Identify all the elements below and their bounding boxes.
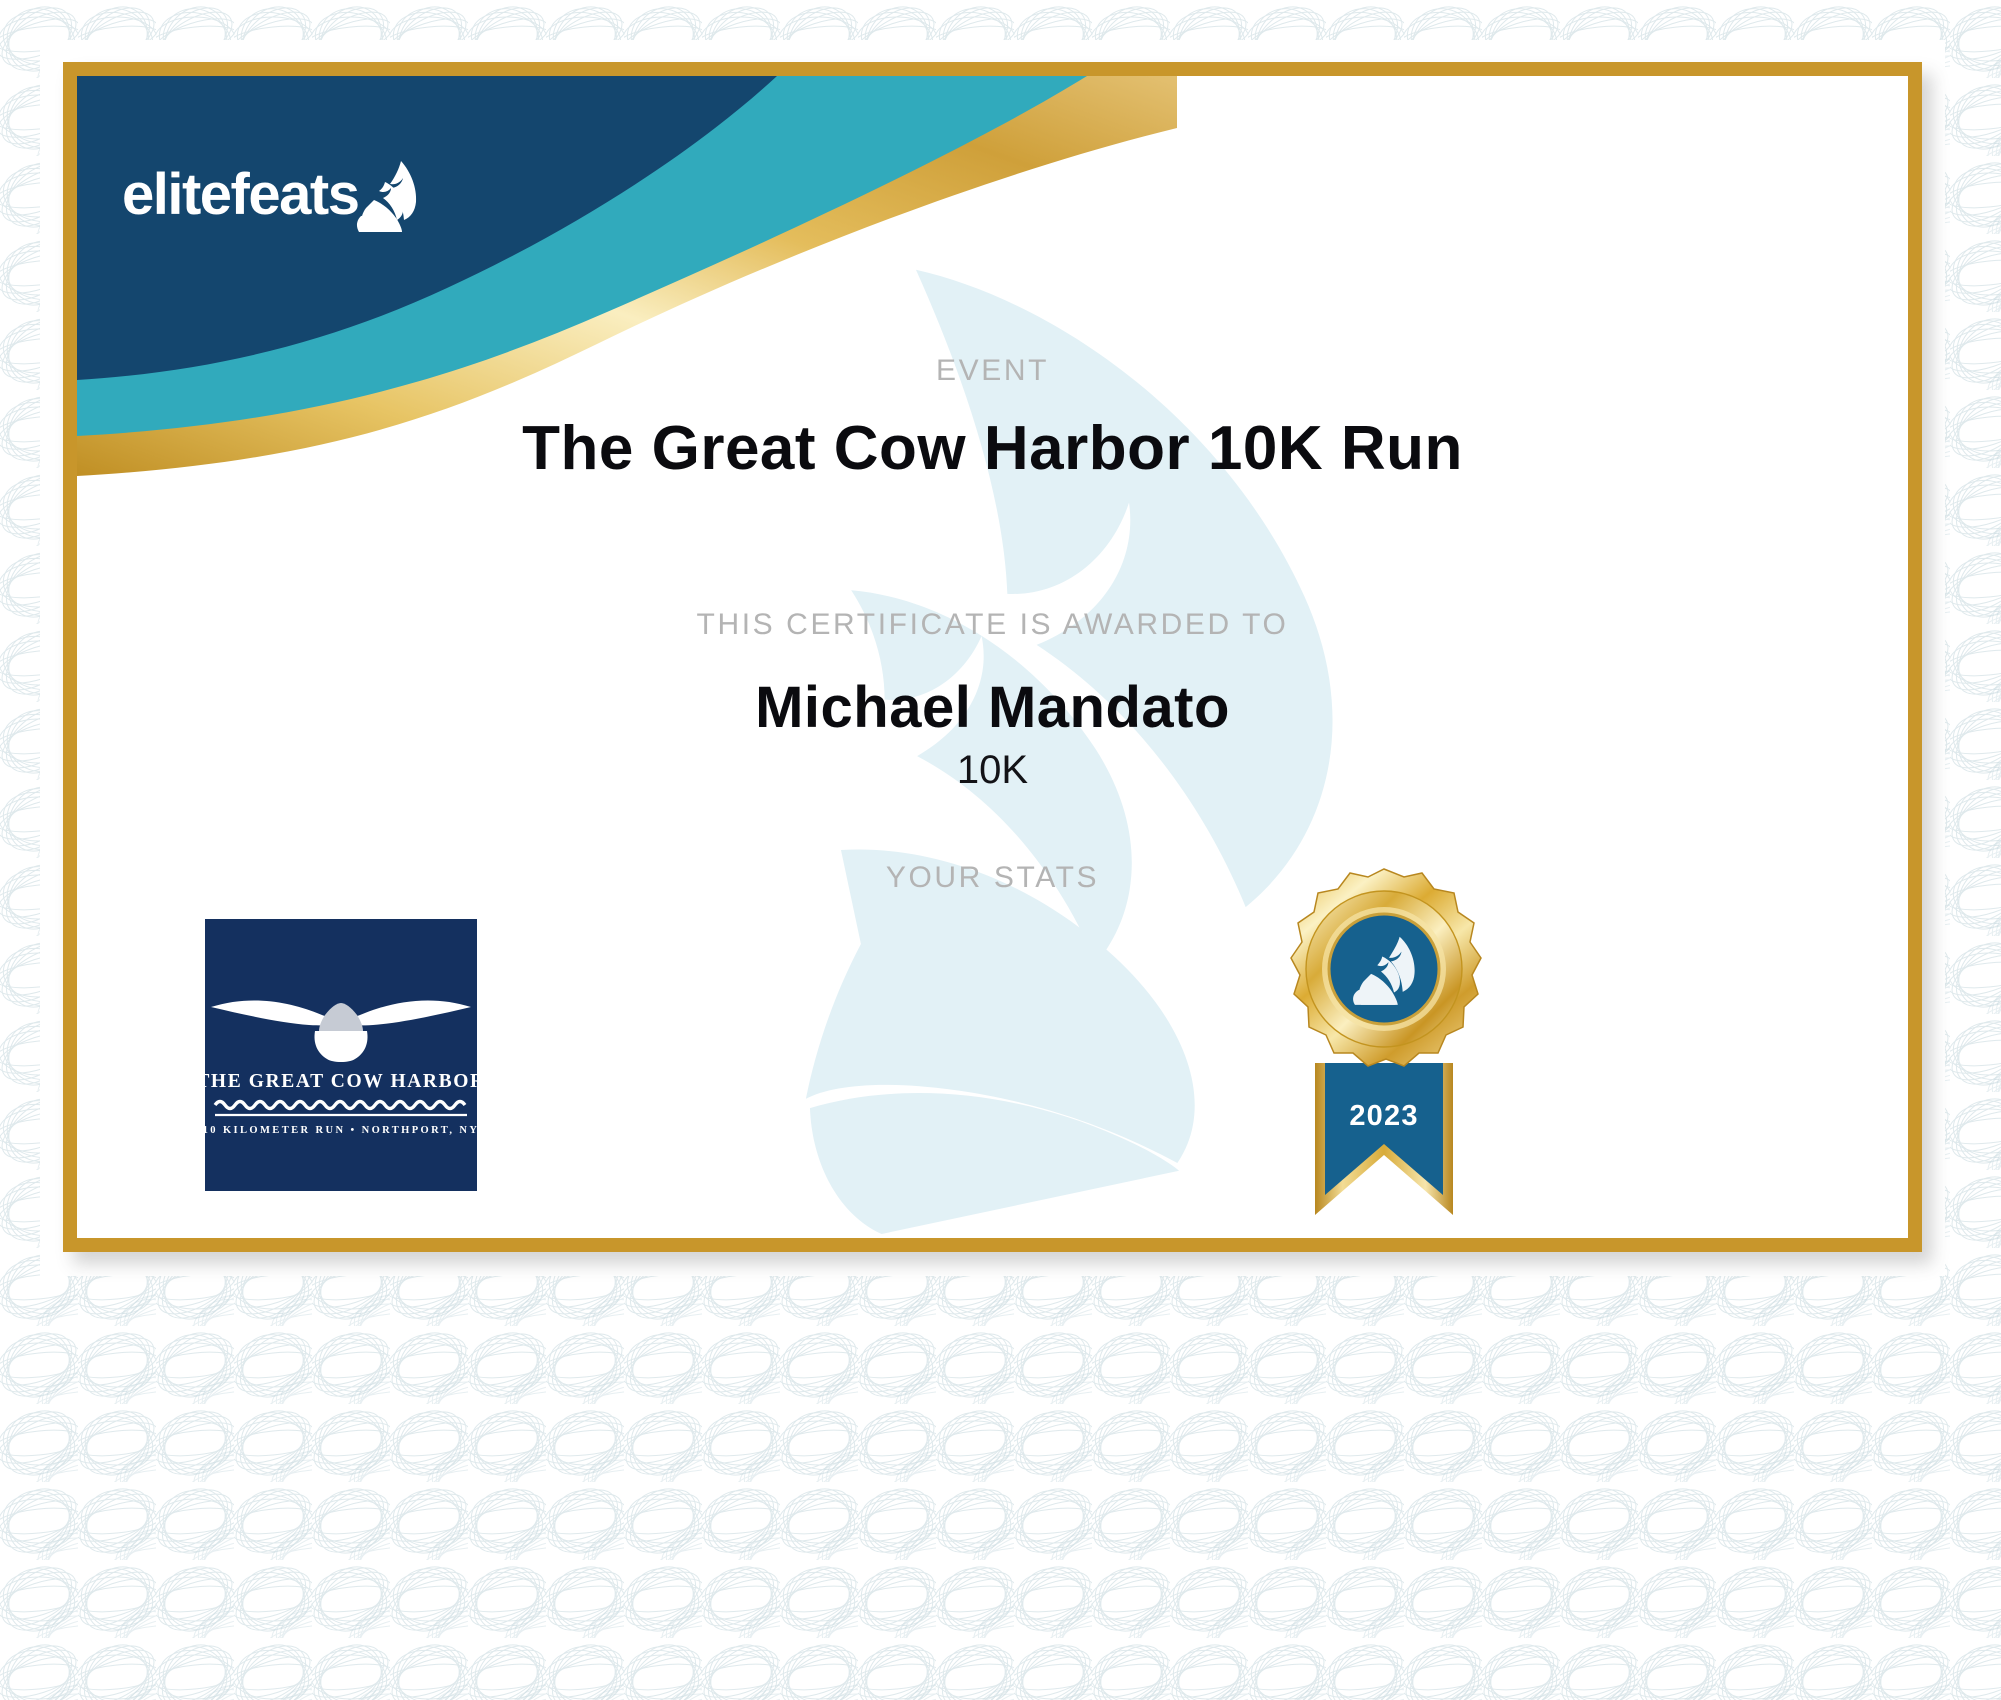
event-title: The Great Cow Harbor 10K Run xyxy=(77,413,1908,484)
stat-label-time: TIME: xyxy=(507,1236,1067,1238)
event-label: EVENT xyxy=(77,354,1908,388)
medal-year: 2023 xyxy=(1349,1100,1418,1132)
finisher-medal: 2023 xyxy=(1267,863,1502,1238)
finisher-caption-line1: FINISHER xyxy=(1217,1236,1557,1238)
event-logo-title: THE GREAT COW HARBOR xyxy=(205,1071,477,1092)
medal-disc xyxy=(1291,869,1481,1066)
distance-value: 10K xyxy=(77,748,1908,793)
certificate-frame: elitefeats EVENT The Great Cow Harbor 10… xyxy=(63,62,1922,1252)
your-stats-label: YOUR STATS xyxy=(77,861,1908,895)
event-logo: THE GREAT COW HARBOR 10 KILOMETER RUN • … xyxy=(205,919,477,1191)
medal-ribbon: 2023 xyxy=(1315,1063,1453,1215)
winged-foot-icon xyxy=(354,158,426,234)
certificate-body: elitefeats EVENT The Great Cow Harbor 10… xyxy=(77,76,1908,1238)
finisher-caption: FINISHER CERTIFICATE xyxy=(1217,1236,1557,1238)
brand-logo-text: elitefeats xyxy=(122,161,358,228)
awarded-to-label: THIS CERTIFICATE IS AWARDED TO xyxy=(77,608,1908,642)
brand-logo: elitefeats xyxy=(122,154,426,234)
certificate-page: elitefeats EVENT The Great Cow Harbor 10… xyxy=(0,0,2001,1700)
event-logo-subtitle: 10 KILOMETER RUN • NORTHPORT, NY xyxy=(205,1125,477,1136)
recipient-name: Michael Mandato xyxy=(77,674,1908,741)
